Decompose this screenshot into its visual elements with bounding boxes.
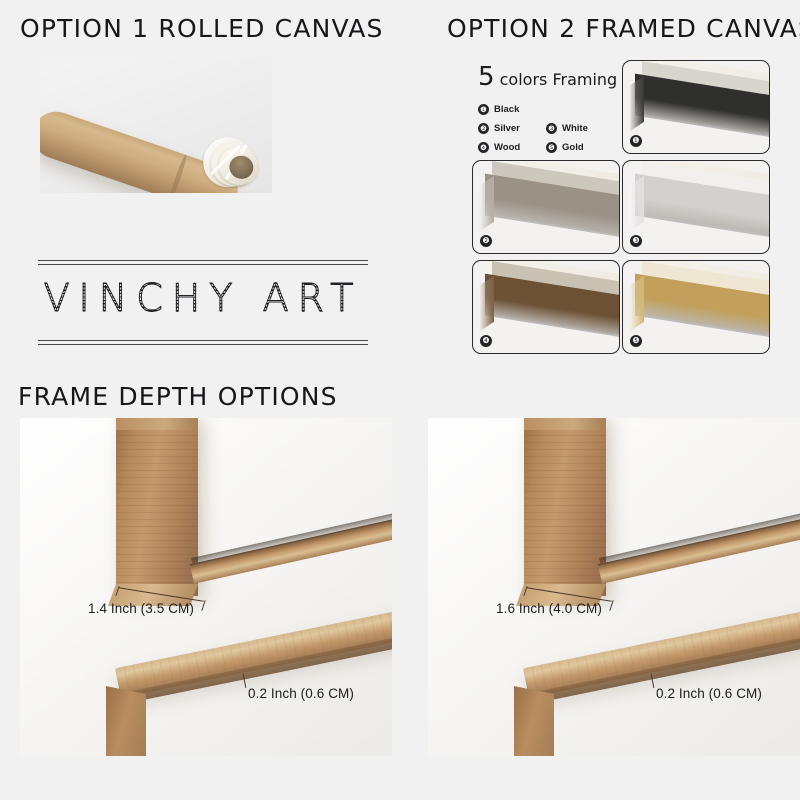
frame-vertical-top-face	[524, 418, 606, 430]
frame-corner-render	[623, 261, 769, 353]
frame-thickness-label: 1.6 Inch (4.0 CM)	[496, 601, 602, 616]
frame-vertical-top-face	[116, 418, 198, 430]
swatch-badge-3: ❸	[630, 235, 642, 247]
frame-left-face	[629, 176, 644, 232]
logo-rule-bottom	[38, 340, 368, 345]
frame-swatch-black[interactable]: ❶	[622, 60, 770, 154]
frame-depth-photo-1: 1.4 Inch (3.5 CM) 0.2 Inch (0.6 CM)	[20, 418, 392, 756]
thickness-tick-right	[201, 600, 205, 611]
swatch-badge-4: ❹	[480, 335, 492, 347]
frame-vertical-bar	[116, 418, 198, 596]
frame-left-face	[629, 76, 644, 132]
frame-vertical-bar	[524, 418, 606, 596]
frame-corner-render	[623, 61, 769, 153]
frame-left-face	[629, 276, 644, 332]
frame-upper-rail	[190, 506, 392, 584]
frame-lower-rail-end	[106, 686, 146, 756]
product-infographic: OPTION 1 ROLLED CANVAS VINCHY ART OPTION…	[0, 0, 800, 800]
swatch-badge-2: ❷	[480, 235, 492, 247]
frame-swatch-gold[interactable]: ❺	[622, 260, 770, 354]
frame-depth-title: FRAME DEPTH OPTIONS	[18, 382, 338, 411]
swatch-badge-1: ❶	[630, 135, 642, 147]
frame-swatch-wood[interactable]: ❹	[472, 260, 620, 354]
tube-seam	[168, 154, 188, 193]
frame-left-face	[479, 176, 494, 232]
logo-rule-top	[38, 260, 368, 265]
frame-left-face	[479, 276, 494, 332]
frame-lower-rail-end	[514, 686, 554, 756]
frame-depth-label: 0.2 Inch (0.6 CM)	[656, 686, 762, 701]
thickness-tick-right	[609, 600, 613, 611]
frame-corner-render	[623, 161, 769, 253]
frame-color-swatch-grid: ❶ ❷ ❸	[470, 60, 790, 356]
frame-upper-rail	[598, 506, 800, 584]
brand-logo: VINCHY ART	[38, 248, 368, 356]
frame-depth-label: 0.2 Inch (0.6 CM)	[248, 686, 354, 701]
frame-swatch-white[interactable]: ❸	[622, 160, 770, 254]
frame-thickness-label: 1.4 Inch (3.5 CM)	[88, 601, 194, 616]
rolled-canvas-end	[195, 129, 272, 193]
swatch-badge-5: ❺	[630, 335, 642, 347]
frame-depth-photo-2: 1.6 Inch (4.0 CM) 0.2 Inch (0.6 CM)	[428, 418, 800, 756]
rolled-canvas-photo	[40, 58, 272, 193]
frame-corner-render	[473, 261, 619, 353]
frame-swatch-silver[interactable]: ❷	[472, 160, 620, 254]
option-2-title: OPTION 2 FRAMED CANVAS	[447, 14, 800, 43]
brand-name: VINCHY ART	[38, 276, 368, 320]
frame-corner-render	[473, 161, 619, 253]
option-1-title: OPTION 1 ROLLED CANVAS	[20, 14, 384, 43]
